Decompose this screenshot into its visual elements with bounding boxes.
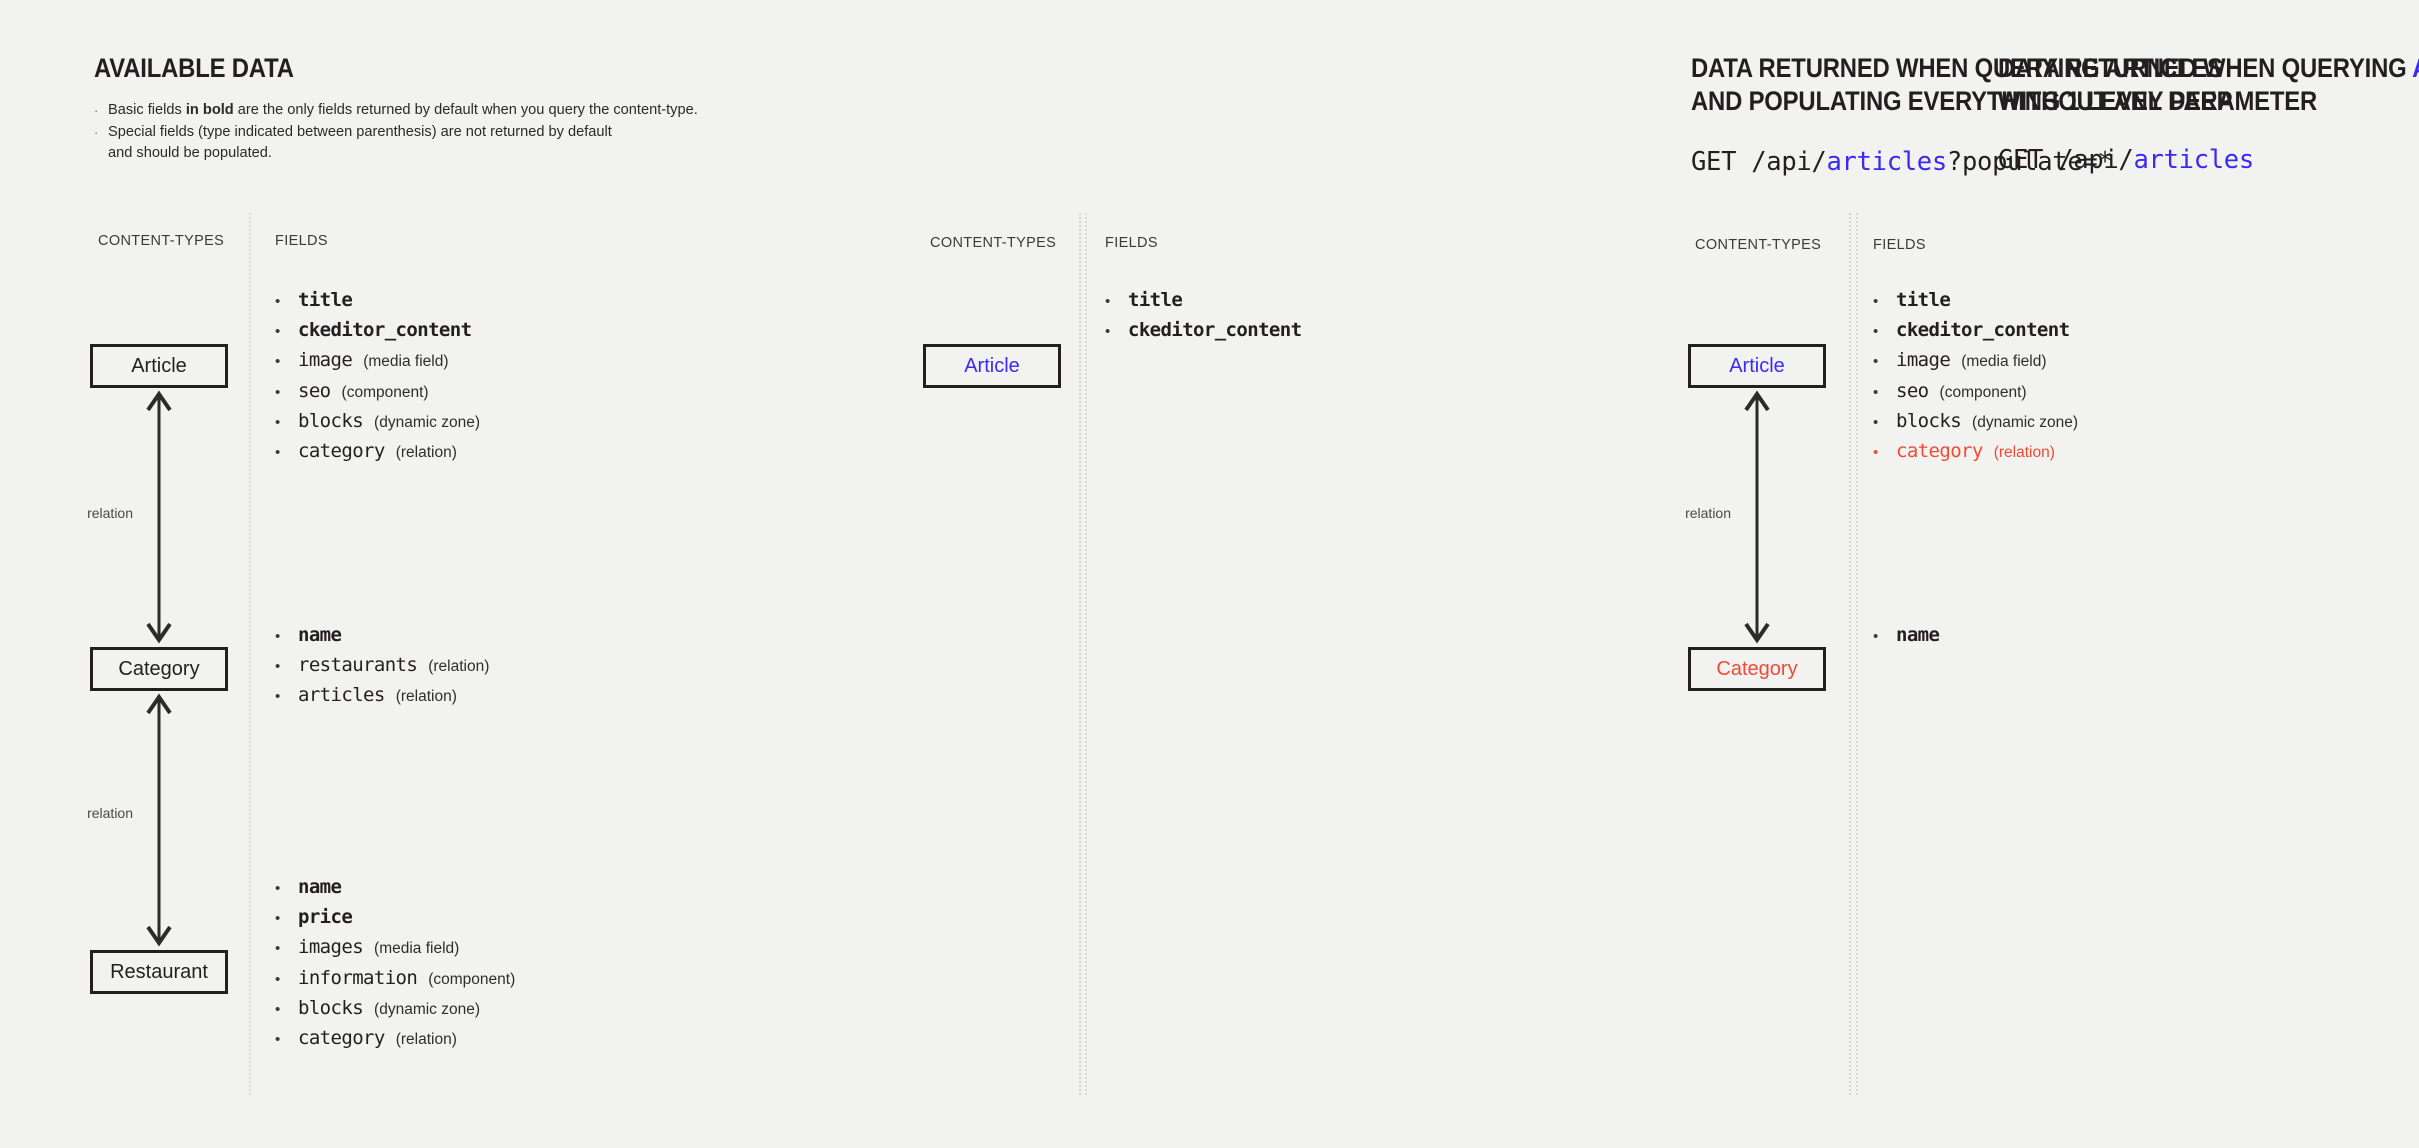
bullet-icon: • xyxy=(275,294,298,309)
field-type: (component) xyxy=(342,384,429,402)
field-name: price xyxy=(298,906,352,928)
field-type: (relation) xyxy=(428,658,489,676)
legend-lead: Basic fields xyxy=(108,102,186,118)
field-type: (dynamic zone) xyxy=(374,414,480,432)
column-divider xyxy=(1085,213,1087,1095)
column-divider xyxy=(1856,213,1858,1095)
bullet-icon: • xyxy=(1105,324,1128,339)
caption-fields: FIELDS xyxy=(275,233,328,249)
bullet-icon: • xyxy=(275,1002,298,1017)
bullet-icon: • xyxy=(275,659,298,674)
bullet-icon: • xyxy=(275,415,298,430)
legend-item-special-fields-text: Special fields (type indicated between p… xyxy=(108,122,698,144)
legend-list: · Basic fields in bold are the only fiel… xyxy=(94,100,698,165)
field-type: (relation) xyxy=(396,688,457,706)
caption-content-types: CONTENT-TYPES xyxy=(930,235,1056,251)
bullet-icon: • xyxy=(275,385,298,400)
field-row: • blocks (dynamic zone) xyxy=(1873,410,2080,440)
bullet-icon: • xyxy=(1873,385,1896,400)
entity-label-article: Article xyxy=(131,355,187,378)
field-name: seo xyxy=(298,380,331,402)
relation-arrow-icon xyxy=(140,691,180,949)
field-name: image xyxy=(1896,349,1950,371)
caption-fields: FIELDS xyxy=(1105,235,1158,251)
legend-bold: in bold xyxy=(186,102,234,118)
entity-label-category: Category xyxy=(1716,658,1797,681)
relation-arrow-icon xyxy=(140,388,180,646)
field-name: blocks xyxy=(298,410,363,432)
fields-list-article: • title • ckeditor_content xyxy=(1105,289,1312,349)
entity-box-category[interactable]: Category xyxy=(1688,647,1826,691)
bullet-icon: • xyxy=(275,1032,298,1047)
field-row: • name xyxy=(1873,624,1950,654)
column-divider xyxy=(249,213,251,1095)
entity-label-article: Article xyxy=(1729,355,1785,378)
bullet-icon: · xyxy=(94,100,108,122)
field-name: information xyxy=(298,967,417,989)
field-row: • title xyxy=(1873,289,2080,319)
field-name: blocks xyxy=(1896,410,1961,432)
bullet-icon: • xyxy=(275,629,298,644)
panel-1-heading-text: AVAILABLE DATA xyxy=(94,53,294,83)
legend-item-special-fields: · Special fields (type indicated between… xyxy=(94,122,698,144)
panel-3-heading: DATA RETURNED WHEN QUERYING ARTICLES AND… xyxy=(1691,52,2232,118)
field-row: • images (media field) xyxy=(275,936,515,966)
field-type: (media field) xyxy=(363,353,448,371)
bullet-icon: • xyxy=(275,324,298,339)
field-row: • articles (relation) xyxy=(275,684,489,714)
fields-list-category: • name xyxy=(1873,624,1950,654)
field-row: • name xyxy=(275,876,515,906)
field-row: • image (media field) xyxy=(275,349,482,379)
field-row: • ckeditor_content xyxy=(1105,319,1312,349)
caption-content-types: CONTENT-TYPES xyxy=(98,233,224,249)
field-row: • information (component) xyxy=(275,967,515,997)
caption-content-types: CONTENT-TYPES xyxy=(1695,237,1821,253)
field-name: image xyxy=(298,349,352,371)
endpoint-query: ?populate=* xyxy=(1947,147,2113,177)
field-name: ckeditor_content xyxy=(1128,319,1301,341)
field-name: title xyxy=(298,289,352,311)
bullet-icon: • xyxy=(1105,294,1128,309)
bullet-icon: • xyxy=(275,445,298,460)
entity-box-restaurant[interactable]: Restaurant xyxy=(90,950,228,994)
entity-box-article[interactable]: Article xyxy=(923,344,1061,388)
relation-label-2: relation xyxy=(73,805,133,821)
field-name: category xyxy=(298,440,385,462)
relation-arrow-icon xyxy=(1738,388,1778,646)
bullet-icon: • xyxy=(1873,629,1896,644)
field-name: ckeditor_content xyxy=(298,319,471,341)
field-type: (relation) xyxy=(396,444,457,462)
bullet-icon: • xyxy=(275,881,298,896)
entity-label-category: Category xyxy=(118,658,199,681)
fields-list-article: • title • ckeditor_content • image (medi… xyxy=(1873,289,2080,470)
field-name: blocks xyxy=(298,997,363,1019)
endpoint-method-path: GET /api/ xyxy=(1691,147,1826,177)
fields-list-category: • name • restaurants (relation) • articl… xyxy=(275,624,489,715)
legend-item-special-fields-cont: and should be populated. xyxy=(94,143,698,165)
entity-box-article[interactable]: Article xyxy=(1688,344,1826,388)
bullet-icon: • xyxy=(1873,415,1896,430)
field-row: • ckeditor_content xyxy=(1873,319,2080,349)
bullet-icon: • xyxy=(275,911,298,926)
field-row: • restaurants (relation) xyxy=(275,654,489,684)
bullet-icon: • xyxy=(275,354,298,369)
field-type: (component) xyxy=(1940,384,2027,402)
relation-arrow-article-category xyxy=(1738,388,1778,651)
field-row: • blocks (dynamic zone) xyxy=(275,997,515,1027)
field-name: title xyxy=(1128,289,1182,311)
field-name: category xyxy=(1896,440,1983,462)
fields-list-restaurant: • name • price • images (media field) • … xyxy=(275,876,515,1057)
field-row: • category (relation) xyxy=(275,1027,515,1057)
bullet-icon: · xyxy=(94,122,108,144)
legend-tail: are the only fields returned by default … xyxy=(234,102,698,118)
entity-label-article: Article xyxy=(964,355,1020,378)
entity-box-article[interactable]: Article xyxy=(90,344,228,388)
entity-label-restaurant: Restaurant xyxy=(110,961,208,984)
bullet-icon: • xyxy=(1873,294,1896,309)
relation-arrow-category-restaurant xyxy=(140,691,180,954)
bullet-icon: • xyxy=(1873,445,1896,460)
endpoint-url-panel-3: GET /api/articles?populate=* xyxy=(1691,147,2112,177)
legend-item-special-fields-text-2: and should be populated. xyxy=(108,143,698,165)
field-row: • title xyxy=(1105,289,1312,319)
bullet-icon: • xyxy=(275,972,298,987)
endpoint-resource: articles xyxy=(1826,147,1946,177)
bullet-icon: • xyxy=(275,689,298,704)
field-name: seo xyxy=(1896,380,1929,402)
relation-arrow-article-category xyxy=(140,388,180,651)
bullet-icon: • xyxy=(1873,324,1896,339)
diagram-canvas: AVAILABLE DATA · Basic fields in bold ar… xyxy=(0,0,2419,1148)
bullet-icon: • xyxy=(1873,354,1896,369)
panel-1-heading: AVAILABLE DATA xyxy=(94,52,294,85)
field-name: category xyxy=(298,1027,385,1049)
legend-item-basic-fields-text: Basic fields in bold are the only fields… xyxy=(108,100,698,122)
field-row: • image (media field) xyxy=(1873,349,2080,379)
panel-available-data: AVAILABLE DATA · Basic fields in bold ar… xyxy=(0,0,1080,1148)
field-name: ckeditor_content xyxy=(1896,319,2069,341)
panel-query-populate-deep: DATA RETURNED WHEN QUERYING ARTICLES AND… xyxy=(1850,0,2419,1148)
relation-label-1: relation xyxy=(1671,505,1731,521)
field-type: (component) xyxy=(428,971,515,989)
field-row: • ckeditor_content xyxy=(275,319,482,349)
field-row: • price xyxy=(275,906,515,936)
field-row: • blocks (dynamic zone) xyxy=(275,410,482,440)
field-row: • category (relation) xyxy=(275,440,482,470)
field-type: (media field) xyxy=(374,940,459,958)
field-type: (media field) xyxy=(1961,353,2046,371)
field-name: name xyxy=(1896,624,1939,646)
caption-fields: FIELDS xyxy=(1873,237,1926,253)
fields-list-article: • title • ckeditor_content • image (medi… xyxy=(275,289,482,470)
field-row-highlighted: • category (relation) xyxy=(1873,440,2080,470)
field-name: name xyxy=(298,876,341,898)
field-name: name xyxy=(298,624,341,646)
bullet-icon: • xyxy=(275,941,298,956)
field-type: (relation) xyxy=(1994,444,2055,462)
relation-label-1: relation xyxy=(73,505,133,521)
field-row: • seo (component) xyxy=(1873,380,2080,410)
field-name: images xyxy=(298,936,363,958)
field-row: • seo (component) xyxy=(275,380,482,410)
field-type: (dynamic zone) xyxy=(1972,414,2078,432)
field-row: • title xyxy=(275,289,482,319)
field-name: restaurants xyxy=(298,654,417,676)
field-name: title xyxy=(1896,289,1950,311)
field-type: (dynamic zone) xyxy=(374,1001,480,1019)
legend-item-basic-fields: · Basic fields in bold are the only fiel… xyxy=(94,100,698,122)
field-row: • name xyxy=(275,624,489,654)
panel-3-heading-line1: DATA RETURNED WHEN QUERYING ARTICLES xyxy=(1691,53,2223,83)
entity-box-category[interactable]: Category xyxy=(90,647,228,691)
field-name: articles xyxy=(298,684,385,706)
field-type: (relation) xyxy=(396,1031,457,1049)
panel-3-heading-line2: AND POPULATING EVERYTHING 1 LEVEL DEEP xyxy=(1691,86,2232,116)
